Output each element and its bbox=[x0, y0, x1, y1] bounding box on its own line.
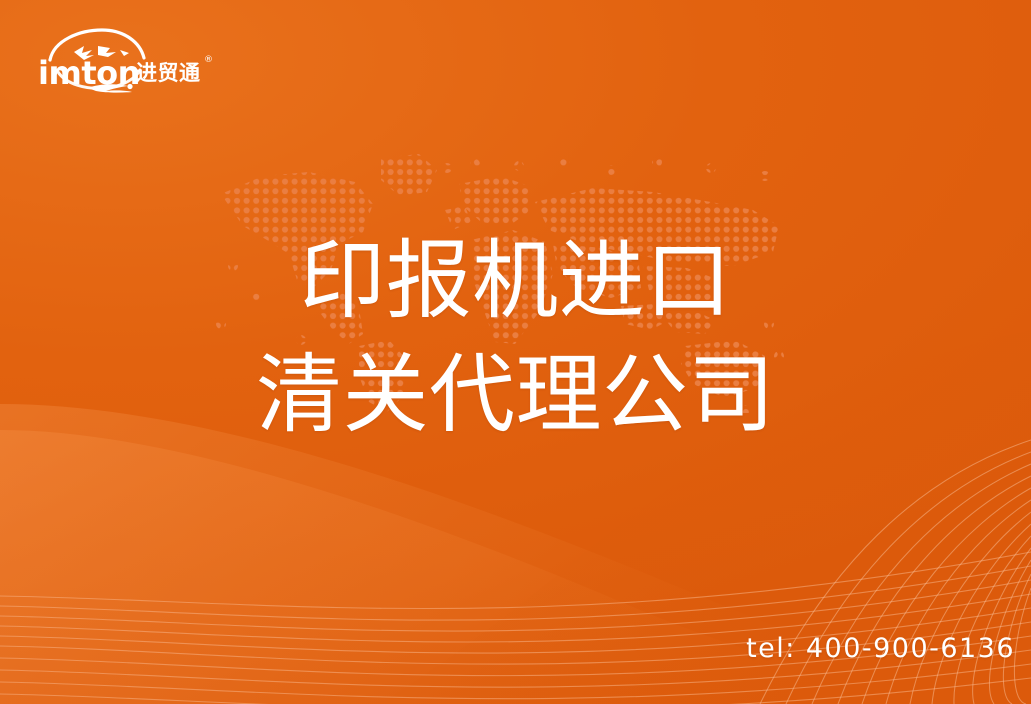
promotional-banner: imton 进贸通 ® 印报机进口 清关代理公司 tel: 400-900-61… bbox=[0, 0, 1031, 704]
company-logo[interactable]: imton 进贸通 ® bbox=[36, 28, 216, 102]
headline-block: 印报机进口 清关代理公司 bbox=[0, 232, 1031, 446]
logo-chinese-name: 进贸通 bbox=[136, 61, 201, 85]
headline-line-1: 印报机进口 bbox=[0, 232, 1031, 332]
contact-phone[interactable]: tel: 400-900-6136 bbox=[746, 633, 1015, 664]
svg-text:imton: imton bbox=[38, 54, 140, 92]
svg-text:进贸通: 进贸通 bbox=[136, 61, 201, 85]
svg-text:®: ® bbox=[204, 55, 213, 65]
headline-line-2: 清关代理公司 bbox=[0, 346, 1031, 446]
logo-wordmark: imton bbox=[38, 54, 140, 92]
registered-mark-icon: ® bbox=[204, 55, 213, 65]
